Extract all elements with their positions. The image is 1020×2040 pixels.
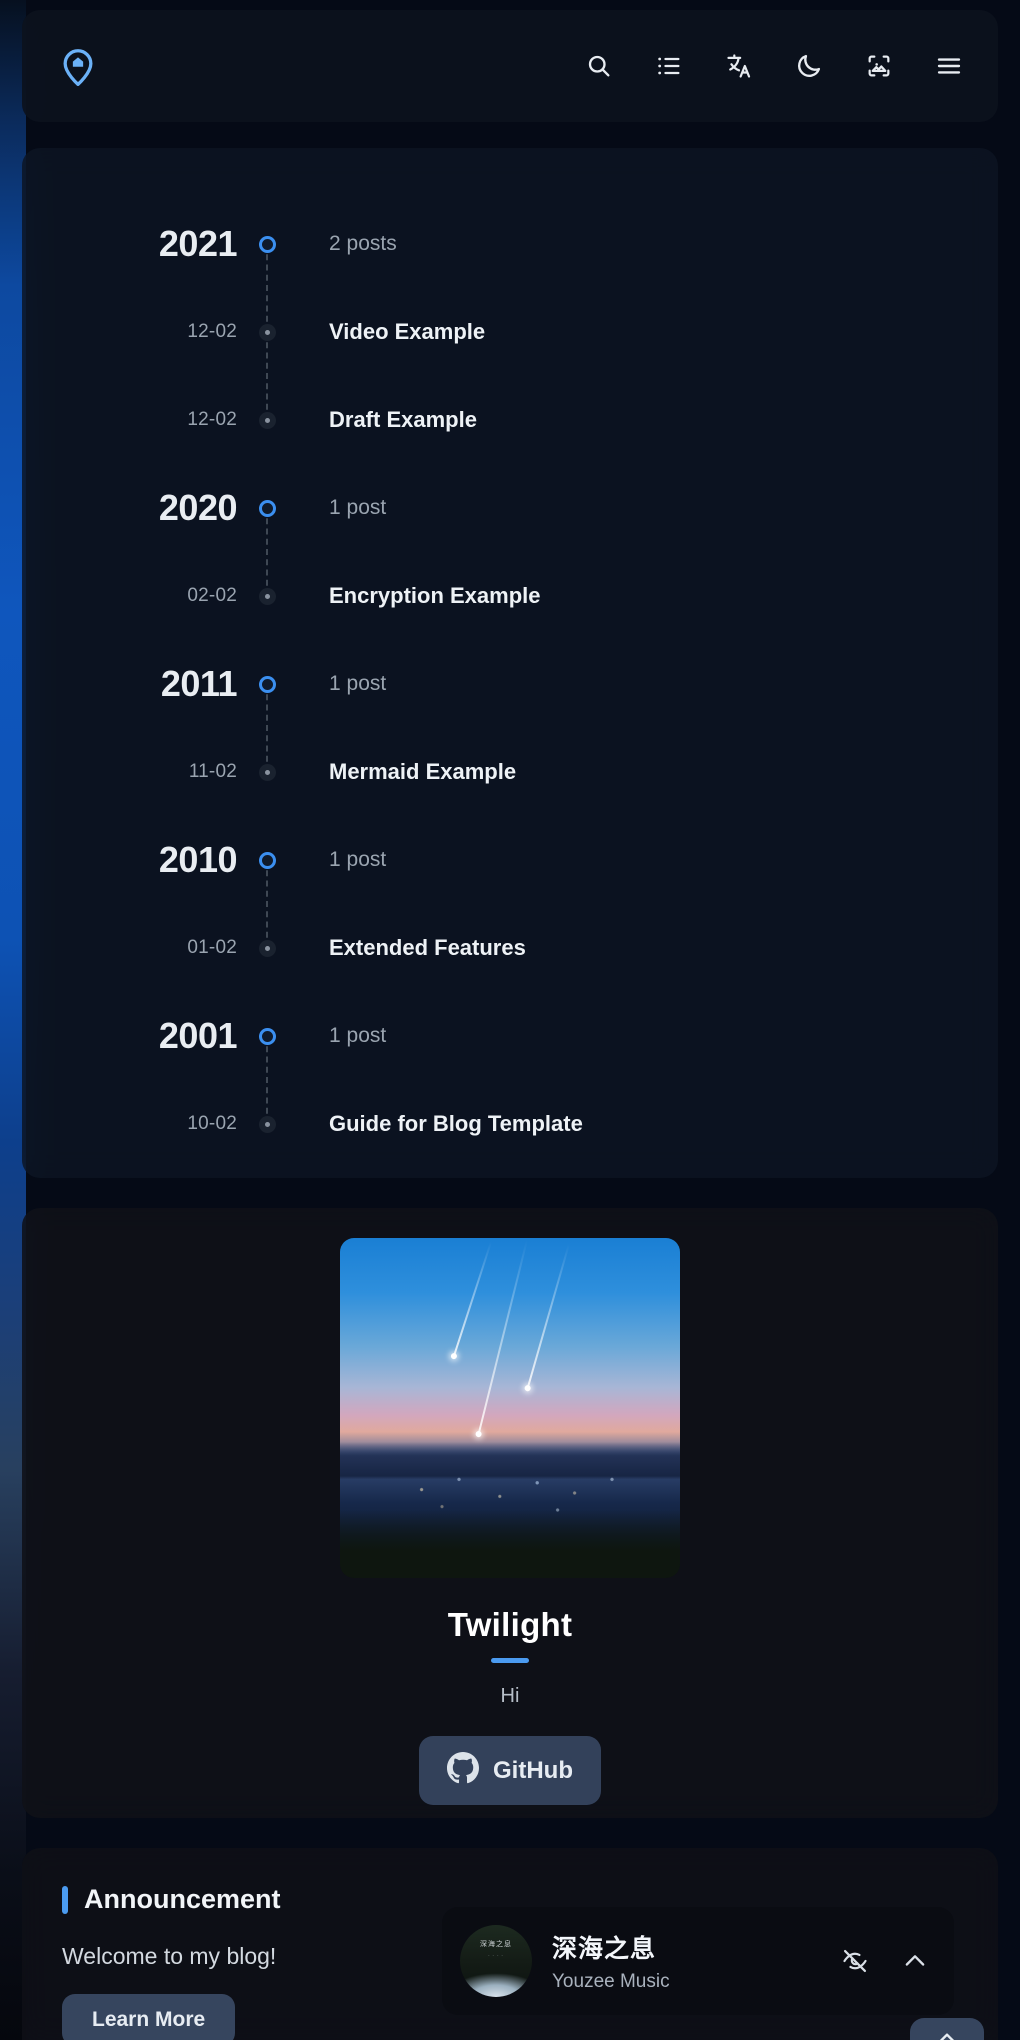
archive-post-node: [237, 764, 297, 781]
archive-year-node: [237, 1028, 297, 1045]
announcement-learn-more-button[interactable]: Learn More: [62, 1994, 235, 2040]
timeline-connector: [266, 508, 268, 596]
archive-post-date-col: 10-02: [22, 1113, 237, 1135]
archive-post-date: 12-02: [187, 409, 237, 430]
archive-year-label: 2001: [159, 1015, 237, 1056]
archive-year-node: [237, 500, 297, 517]
timeline-post-dot: [259, 588, 276, 605]
archive-year-meta: 1 post: [297, 1024, 998, 1048]
timeline-year-dot: [259, 852, 276, 869]
timeline-connector: [266, 684, 268, 772]
archive-post-count: 1 post: [329, 1024, 386, 1047]
announcement-accent-bar: [62, 1886, 68, 1914]
hamburger-menu-icon[interactable]: [934, 51, 964, 81]
archive-post-row[interactable]: 02-02Encryption Example: [22, 552, 998, 640]
music-metadata: 深海之息 Youzee Music: [552, 1929, 820, 1993]
archive-year-row: 20101 post: [22, 816, 998, 904]
archive-year-row: 20201 post: [22, 464, 998, 552]
archive-year-col: 2020: [22, 487, 237, 529]
profile-description: Hi: [501, 1685, 520, 1708]
archive-post-meta: Video Example: [297, 319, 998, 345]
github-label: GitHub: [493, 1757, 573, 1785]
profile-divider: [491, 1658, 529, 1663]
home-location-pin-logo[interactable]: [56, 44, 100, 88]
archive-post-row[interactable]: 11-02Mermaid Example: [22, 728, 998, 816]
archive-post-date-col: 02-02: [22, 585, 237, 607]
archive-post-meta: Draft Example: [297, 407, 998, 433]
archive-post-count: 1 post: [329, 848, 386, 871]
archive-year-row: 20011 post: [22, 992, 998, 1080]
archive-post-title[interactable]: Draft Example: [329, 407, 477, 432]
archive-year-node: [237, 852, 297, 869]
twilight-cityscape-avatar: [340, 1238, 680, 1578]
archive-post-node: [237, 940, 297, 957]
music-cover-title: 深海之息: [460, 1939, 532, 1949]
archive-year-col: 2001: [22, 1015, 237, 1057]
announcement-title: Announcement: [84, 1884, 281, 1915]
timeline-year-dot: [259, 1028, 276, 1045]
archive-post-node: [237, 588, 297, 605]
archive-year-col: 2021: [22, 223, 237, 265]
archive-post-meta: Mermaid Example: [297, 759, 998, 785]
archive-year-col: 2010: [22, 839, 237, 881]
profile-name: Twilight: [448, 1606, 573, 1644]
timeline-connector: [266, 244, 268, 332]
timeline-year-dot: [259, 676, 276, 693]
archive-post-date: 12-02: [187, 321, 237, 342]
archive-post-row[interactable]: 10-02Guide for Blog Template: [22, 1080, 998, 1168]
archive-post-meta: Encryption Example: [297, 583, 998, 609]
music-player-widget: 深海之息 - - - - 深海之息 Youzee Music: [442, 1907, 954, 2015]
archive-post-count: 2 posts: [329, 232, 397, 255]
archive-year-col: 2011: [22, 663, 237, 705]
timeline-post-dot: [259, 1116, 276, 1133]
timeline-connector: [266, 332, 268, 420]
archive-post-date-col: 01-02: [22, 937, 237, 959]
profile-card: Twilight Hi GitHub: [22, 1208, 998, 1818]
archive-year-meta: 2 posts: [297, 232, 998, 256]
archive-post-node: [237, 412, 297, 429]
archive-post-title[interactable]: Mermaid Example: [329, 759, 516, 784]
archive-year-label: 2020: [159, 487, 237, 528]
timeline-connector: [266, 1036, 268, 1124]
search-icon[interactable]: [584, 51, 614, 81]
eye-off-icon[interactable]: [840, 1946, 870, 1976]
archive-post-date: 11-02: [189, 761, 237, 782]
timeline-post-dot: [259, 764, 276, 781]
music-cover-art: 深海之息 - - - -: [460, 1925, 532, 1997]
archive-post-date-col: 12-02: [22, 321, 237, 343]
archive-post-date: 10-02: [187, 1113, 237, 1134]
timeline-post-dot: [259, 412, 276, 429]
archive-timeline-card: 20212 posts12-02Video Example12-02Draft …: [22, 148, 998, 1178]
music-track-title: 深海之息: [552, 1929, 820, 1965]
archive-post-title[interactable]: Extended Features: [329, 935, 526, 960]
archive-year-node: [237, 236, 297, 253]
timeline-post-dot: [259, 324, 276, 341]
archive-post-meta: Guide for Blog Template: [297, 1111, 998, 1137]
table-of-contents-icon[interactable]: [654, 51, 684, 81]
archive-year-label: 2011: [161, 663, 237, 704]
archive-timeline: 20212 posts12-02Video Example12-02Draft …: [22, 200, 998, 1168]
archive-post-title[interactable]: Guide for Blog Template: [329, 1111, 583, 1136]
scroll-to-top-button[interactable]: [910, 2018, 984, 2040]
archive-year-label: 2021: [159, 223, 237, 264]
archive-year-label: 2010: [159, 839, 237, 880]
archive-year-meta: 1 post: [297, 496, 998, 520]
chevron-up-icon[interactable]: [900, 1946, 930, 1976]
timeline-connector: [266, 860, 268, 948]
github-button[interactable]: GitHub: [419, 1736, 601, 1805]
archive-post-title[interactable]: Video Example: [329, 319, 485, 344]
music-artist-name: Youzee Music: [552, 1971, 820, 1993]
image-toggle-icon[interactable]: [864, 51, 894, 81]
archive-post-date-col: 12-02: [22, 409, 237, 431]
site-header: [22, 10, 998, 122]
archive-post-meta: Extended Features: [297, 935, 998, 961]
archive-year-row: 20212 posts: [22, 200, 998, 288]
archive-post-date: 02-02: [187, 585, 237, 606]
moon-icon[interactable]: [794, 51, 824, 81]
archive-year-meta: 1 post: [297, 848, 998, 872]
archive-post-date: 01-02: [187, 937, 237, 958]
archive-post-date-col: 11-02: [22, 761, 237, 783]
archive-post-row[interactable]: 01-02Extended Features: [22, 904, 998, 992]
archive-post-row[interactable]: 12-02Video Example: [22, 288, 998, 376]
translate-icon[interactable]: [724, 51, 754, 81]
archive-post-row[interactable]: 12-02Draft Example: [22, 376, 998, 464]
timeline-year-dot: [259, 236, 276, 253]
archive-year-meta: 1 post: [297, 672, 998, 696]
archive-year-row: 20111 post: [22, 640, 998, 728]
archive-post-title[interactable]: Encryption Example: [329, 583, 541, 608]
archive-post-count: 1 post: [329, 496, 386, 519]
header-actions: [584, 51, 964, 81]
chevron-up-icon: [934, 2026, 960, 2040]
github-icon: [447, 1752, 479, 1789]
music-actions: [840, 1946, 930, 1976]
archive-post-count: 1 post: [329, 672, 386, 695]
archive-post-node: [237, 1116, 297, 1133]
archive-year-node: [237, 676, 297, 693]
timeline-post-dot: [259, 940, 276, 957]
archive-post-node: [237, 324, 297, 341]
timeline-year-dot: [259, 500, 276, 517]
music-cover-subtitle: - - - -: [460, 1952, 532, 1957]
